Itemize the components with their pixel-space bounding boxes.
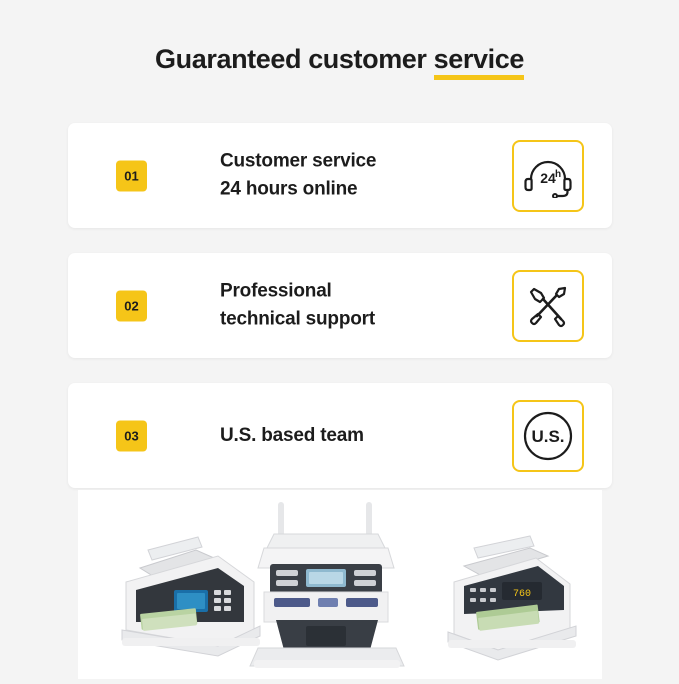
- feature-card-3: 03 U.S. based team U.S.: [68, 383, 612, 488]
- us-circle-icon: U.S.: [522, 410, 574, 462]
- feature-icon-box-2: [512, 270, 584, 342]
- feature-text-line2: technical support: [220, 306, 375, 335]
- feature-number-badge: 01: [116, 160, 147, 191]
- feature-number-badge: 03: [116, 420, 147, 451]
- page-title: Guaranteed customer service: [0, 44, 679, 77]
- feature-text-3: U.S. based team: [220, 421, 364, 450]
- headset-24h-icon: 24 h: [524, 154, 572, 198]
- product-photo-strip: 760: [78, 490, 602, 679]
- page-title-highlight: service: [434, 44, 524, 77]
- svg-text:24: 24: [540, 170, 556, 186]
- feature-icon-box-3: U.S.: [512, 400, 584, 472]
- wrench-screwdriver-icon: [525, 283, 571, 329]
- feature-card-1: 01 Customer service 24 hours online: [68, 123, 612, 228]
- feature-text-line1: U.S. based team: [220, 421, 364, 450]
- svg-text:h: h: [555, 169, 561, 180]
- page-title-prefix: Guaranteed customer: [155, 44, 434, 74]
- feature-icon-box-1: 24 h: [512, 140, 584, 212]
- feature-text-1: Customer service 24 hours online: [220, 147, 376, 204]
- feature-card-2: 02 Professional technical support: [68, 253, 612, 358]
- money-counter-machines-illustration: 760: [78, 490, 602, 679]
- feature-text-2: Professional technical support: [220, 277, 375, 334]
- feature-text-line1: Professional: [220, 277, 375, 306]
- svg-text:760: 760: [513, 589, 531, 600]
- feature-text-line2: 24 hours online: [220, 176, 376, 205]
- product-feature-page: Guaranteed customer service 01 Customer …: [0, 0, 679, 679]
- us-icon-label: U.S.: [531, 427, 564, 446]
- feature-number-badge: 02: [116, 290, 147, 321]
- feature-text-line1: Customer service: [220, 147, 376, 176]
